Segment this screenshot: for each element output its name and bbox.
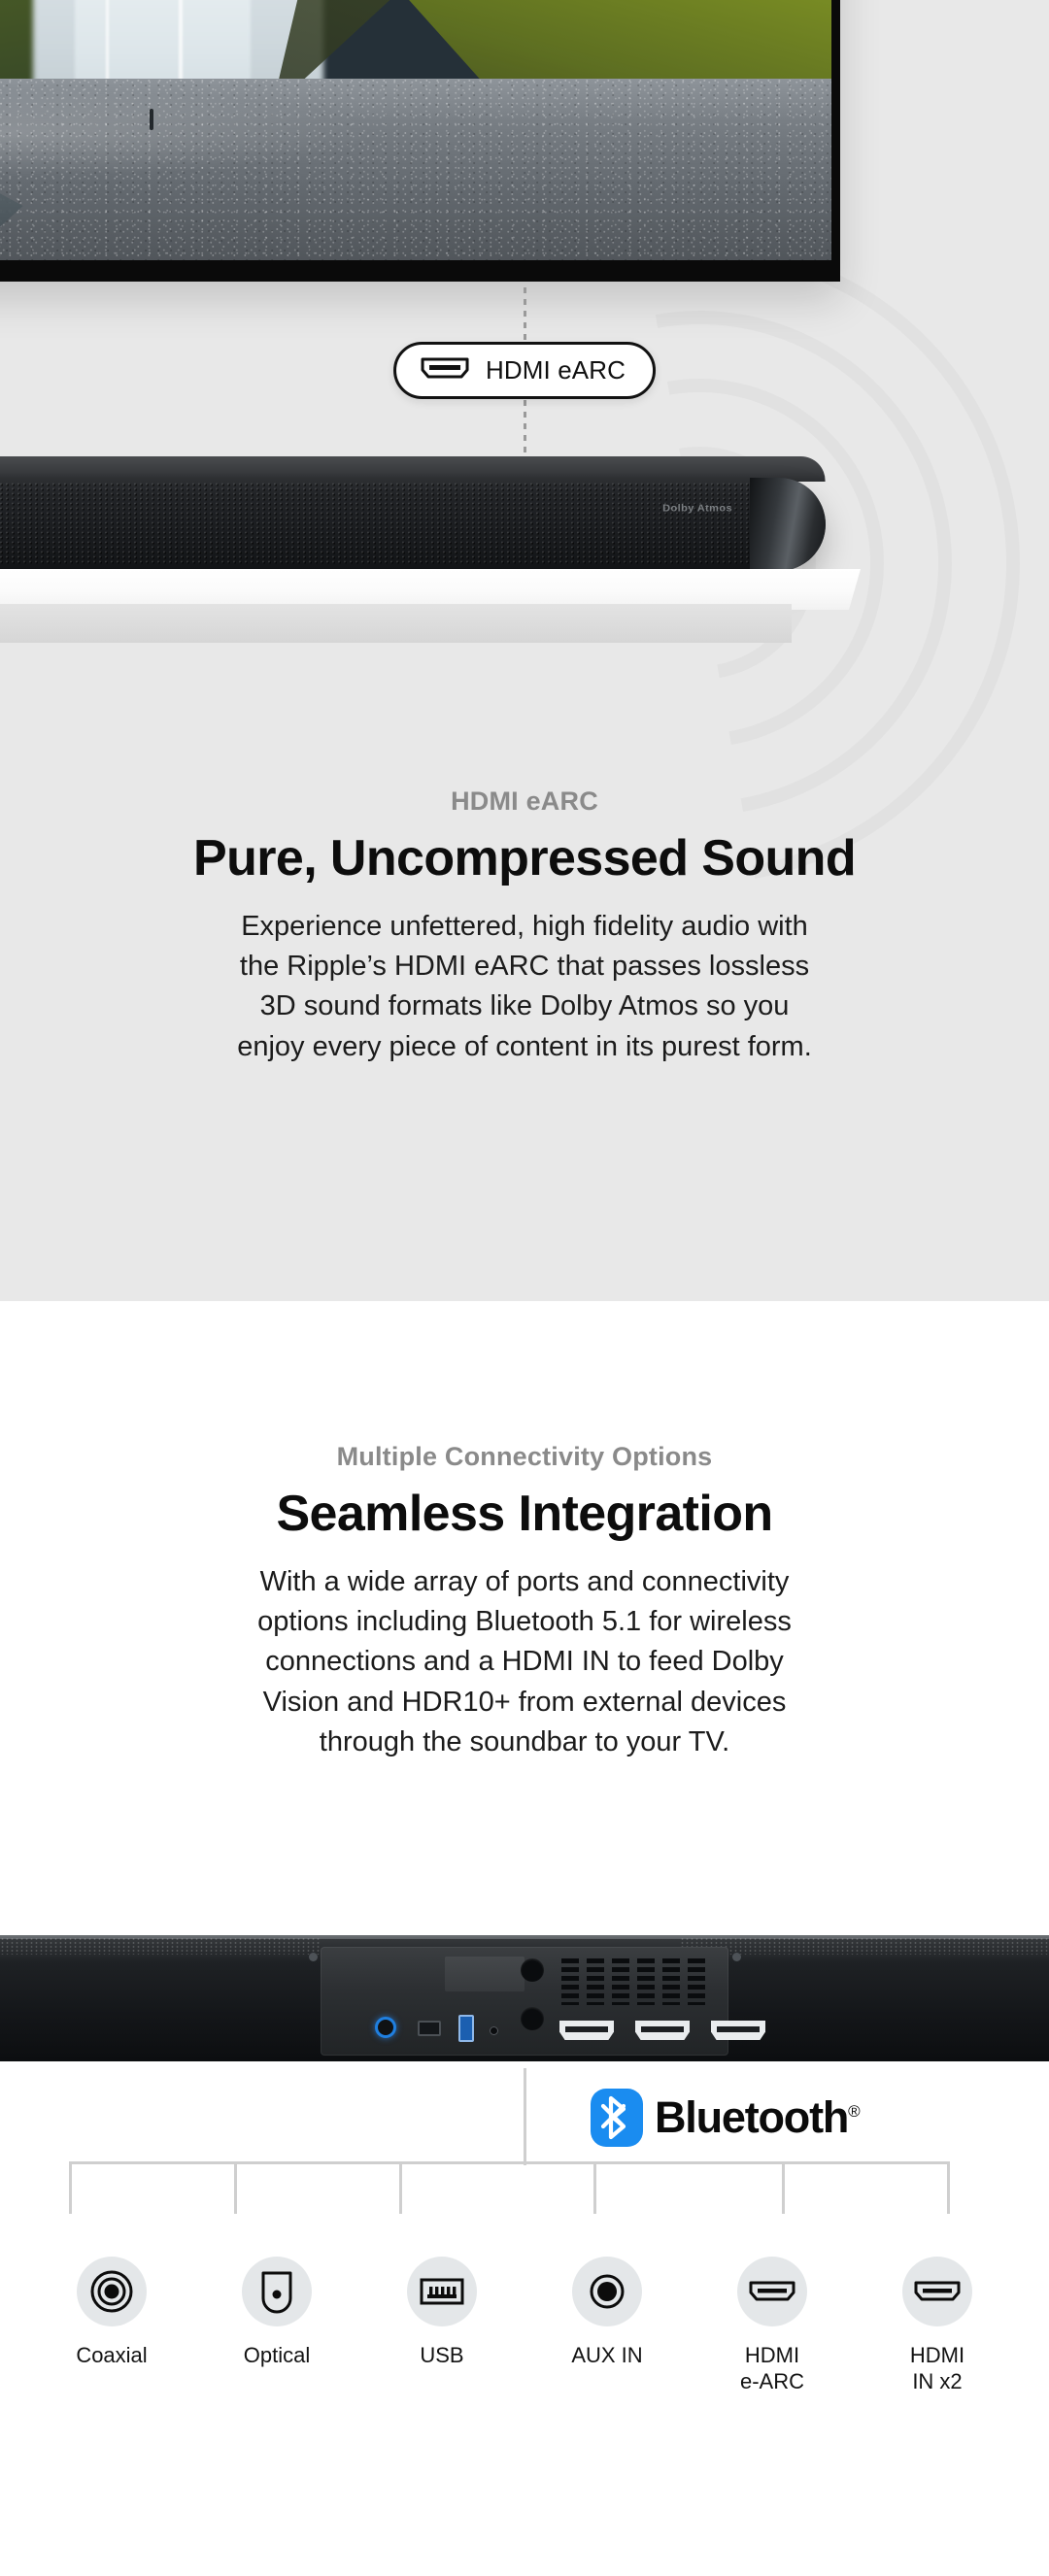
rear-usb-port <box>458 2015 474 2042</box>
connectivity-eyebrow: Multiple Connectivity Options <box>0 1442 1049 1472</box>
port-item-hdmi-in[interactable]: HDMI IN x2 <box>869 2257 1006 2395</box>
bluetooth-wordmark: Bluetooth® <box>655 2092 859 2143</box>
port-item-hdmi-earc[interactable]: HDMI e-ARC <box>704 2257 841 2395</box>
rear-aux-port <box>490 2026 498 2035</box>
port-label-optical: Optical <box>209 2343 346 2369</box>
hdmi-port-icon <box>902 2257 972 2326</box>
coaxial-icon <box>77 2257 147 2326</box>
television <box>0 0 840 282</box>
tree-drop-2 <box>234 2161 237 2214</box>
hero-paragraph: Experience unfettered, high fidelity aud… <box>223 907 826 1067</box>
dolby-atmos-logo: Dolby Atmos <box>662 504 732 515</box>
connectivity-copy-block: Multiple Connectivity Options Seamless I… <box>0 1442 1049 1762</box>
tree-drop-5 <box>782 2161 785 2214</box>
registered-mark: ® <box>848 2102 859 2121</box>
rear-port-panel <box>321 1947 728 2056</box>
hero-eyebrow: HDMI eARC <box>0 786 1049 817</box>
hdmi-earc-badge: HDMI eARC <box>393 342 656 399</box>
panel-screw-right <box>732 1953 741 1961</box>
hero-copy-block: HDMI eARC Pure, Uncompressed Sound Exper… <box>0 786 1049 1067</box>
connectivity-headline: Seamless Integration <box>0 1485 1049 1543</box>
mount-hole-upper <box>521 1958 544 1982</box>
port-label-usb: USB <box>374 2343 511 2369</box>
port-label-hdmi-earc: HDMI e-ARC <box>704 2343 841 2395</box>
port-label-hdmi-in: HDMI IN x2 <box>869 2343 1006 2395</box>
dotted-connector-upper <box>524 287 526 342</box>
tree-drop-3 <box>399 2161 402 2214</box>
usb-icon <box>407 2257 477 2326</box>
rear-optical-port <box>418 2021 441 2036</box>
connectivity-paragraph: With a wide array of ports and connectiv… <box>223 1562 826 1762</box>
mount-hole-lower <box>521 2007 544 2030</box>
hdmi-port-icon <box>737 2257 807 2326</box>
hdmi-port-icon <box>420 355 470 385</box>
shelf-edge <box>0 604 792 643</box>
tree-bus <box>69 2161 949 2164</box>
port-item-coaxial[interactable]: Coaxial <box>44 2257 181 2369</box>
hdmi-earc-badge-label: HDMI eARC <box>486 355 626 385</box>
tree-drop-6 <box>947 2161 950 2214</box>
optical-toslink-icon <box>242 2257 312 2326</box>
port-item-usb[interactable]: USB <box>374 2257 511 2369</box>
tree-drop-1 <box>69 2161 72 2214</box>
bluetooth-badge: Bluetooth® <box>591 2089 859 2147</box>
soundbar-rear <box>0 1927 1049 2068</box>
dotted-connector-lower <box>524 400 526 456</box>
tree-stem <box>524 2068 526 2165</box>
rear-coaxial-port <box>375 2017 396 2038</box>
port-label-coaxial: Coaxial <box>44 2343 181 2369</box>
tree-drop-4 <box>593 2161 596 2214</box>
person-figure <box>150 109 153 130</box>
ventilation-grille <box>561 1958 705 2005</box>
hero-headline: Pure, Uncompressed Sound <box>0 829 1049 887</box>
port-label-aux-in: AUX IN <box>539 2343 676 2369</box>
waterfall-scene-image <box>0 0 831 260</box>
rear-hdmi-ports <box>559 2021 765 2040</box>
port-icon-row: Coaxial Optical USB <box>0 2257 1049 2395</box>
connector-tree <box>0 2068 1049 2194</box>
aux-jack-icon <box>572 2257 642 2326</box>
port-item-optical[interactable]: Optical <box>209 2257 346 2369</box>
panel-screw-left <box>309 1953 318 1961</box>
hero-section: HDMI eARC Dolby Atmos HDMI eARC Pure, Un… <box>0 0 1049 1301</box>
speaker-grille <box>0 482 761 565</box>
tv-screen <box>0 0 831 260</box>
port-item-aux-in[interactable]: AUX IN <box>539 2257 676 2369</box>
bluetooth-icon <box>591 2089 643 2147</box>
warning-label <box>445 1957 524 1991</box>
